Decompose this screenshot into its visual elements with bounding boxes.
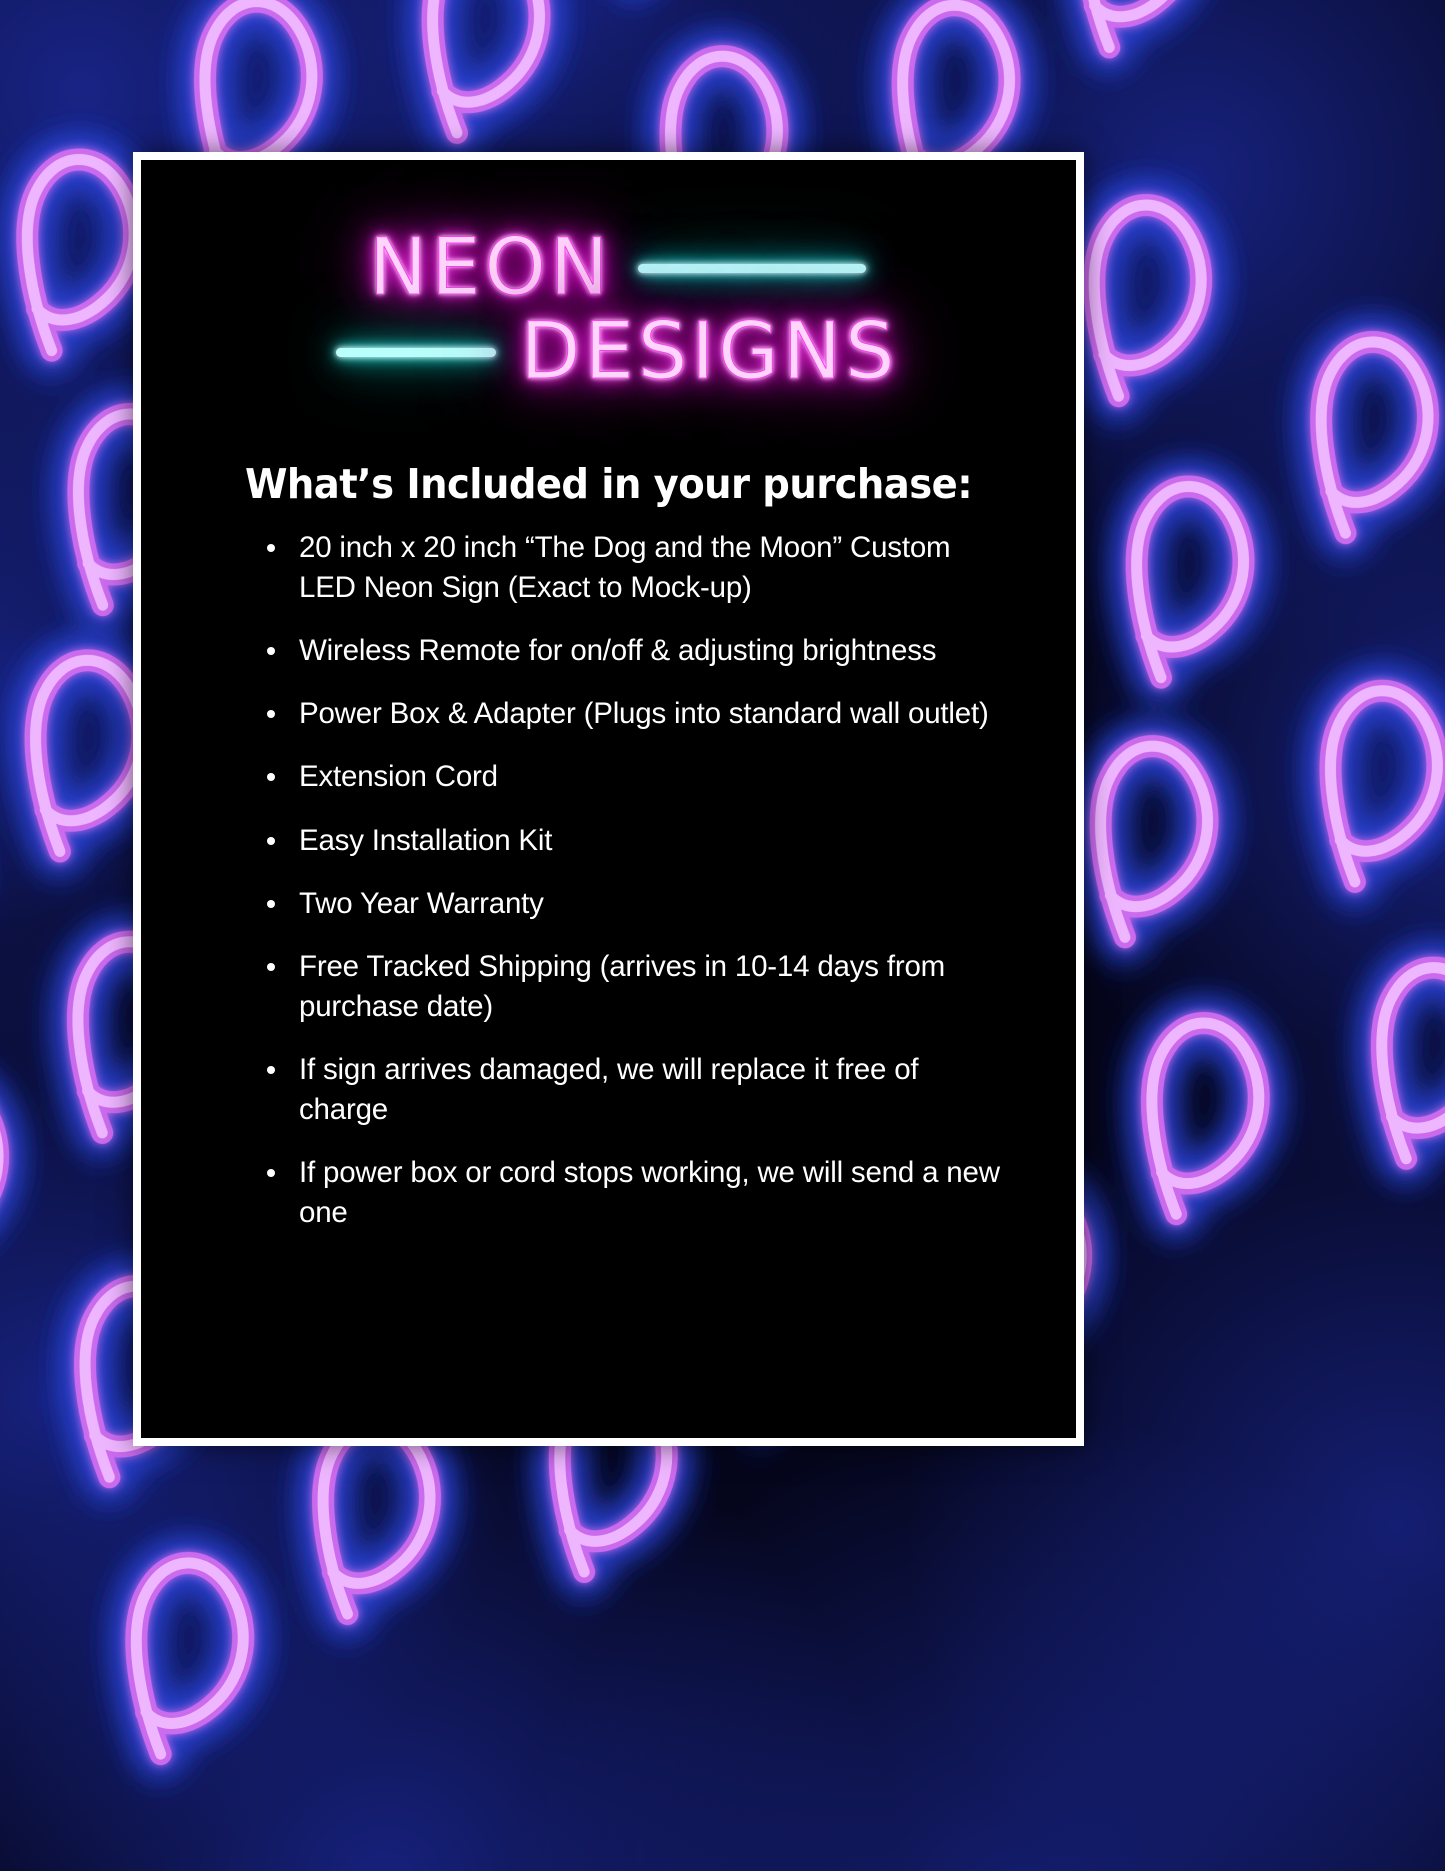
bullet-icon [267,1066,275,1074]
list-item-label: If sign arrives damaged, we will replace… [299,1053,918,1126]
list-item: If sign arrives damaged, we will replace… [259,1050,1014,1130]
page-title: What’s Included in your purchase: [169,460,1048,508]
bullet-icon [267,1169,275,1177]
bullet-icon [267,544,275,552]
list-item-label: Two Year Warranty [299,887,544,920]
bullet-icon [267,837,275,845]
list-item-label: Extension Cord [299,760,498,793]
list-item: Two Year Warranty [259,884,1014,924]
bullet-icon [267,773,275,781]
list-item-label: 20 inch x 20 inch “The Dog and the Moon”… [299,531,950,604]
cyan-bar-bottom-icon [336,348,496,357]
product-info-card-page: NEON DESIGNS What’s Included in your pur… [0,0,1445,1871]
card-white-frame: NEON DESIGNS What’s Included in your pur… [133,152,1084,1446]
card-body: NEON DESIGNS What’s Included in your pur… [141,160,1076,1438]
bullet-icon [267,647,275,655]
bullet-icon [267,900,275,908]
list-item-label: Easy Installation Kit [299,824,552,857]
list-item-label: Wireless Remote for on/off & adjusting b… [299,634,936,667]
list-item: Free Tracked Shipping (arrives in 10-14 … [259,947,1014,1027]
logo-word-designs: DESIGNS [520,313,898,391]
bullet-icon [267,963,275,971]
list-item-label: If power box or cord stops working, we w… [299,1156,1000,1229]
logo-line-designs: DESIGNS [141,302,1076,402]
list-item: Easy Installation Kit [259,821,1014,861]
list-item: Extension Cord [259,757,1014,797]
list-item: 20 inch x 20 inch “The Dog and the Moon”… [259,528,1014,608]
logo-word-neon: NEON [369,229,612,307]
cyan-bar-top-icon [638,264,866,273]
list-item: If power box or cord stops working, we w… [259,1153,1014,1233]
bullet-icon [267,710,275,718]
list-item-label: Power Box & Adapter (Plugs into standard… [299,697,989,730]
list-item: Wireless Remote for on/off & adjusting b… [259,631,1014,671]
list-item: Power Box & Adapter (Plugs into standard… [259,694,1014,734]
list-item-label: Free Tracked Shipping (arrives in 10-14 … [299,950,945,1023]
included-items-list: 20 inch x 20 inch “The Dog and the Moon”… [259,528,1014,1256]
brand-logo: NEON DESIGNS [141,218,1076,418]
